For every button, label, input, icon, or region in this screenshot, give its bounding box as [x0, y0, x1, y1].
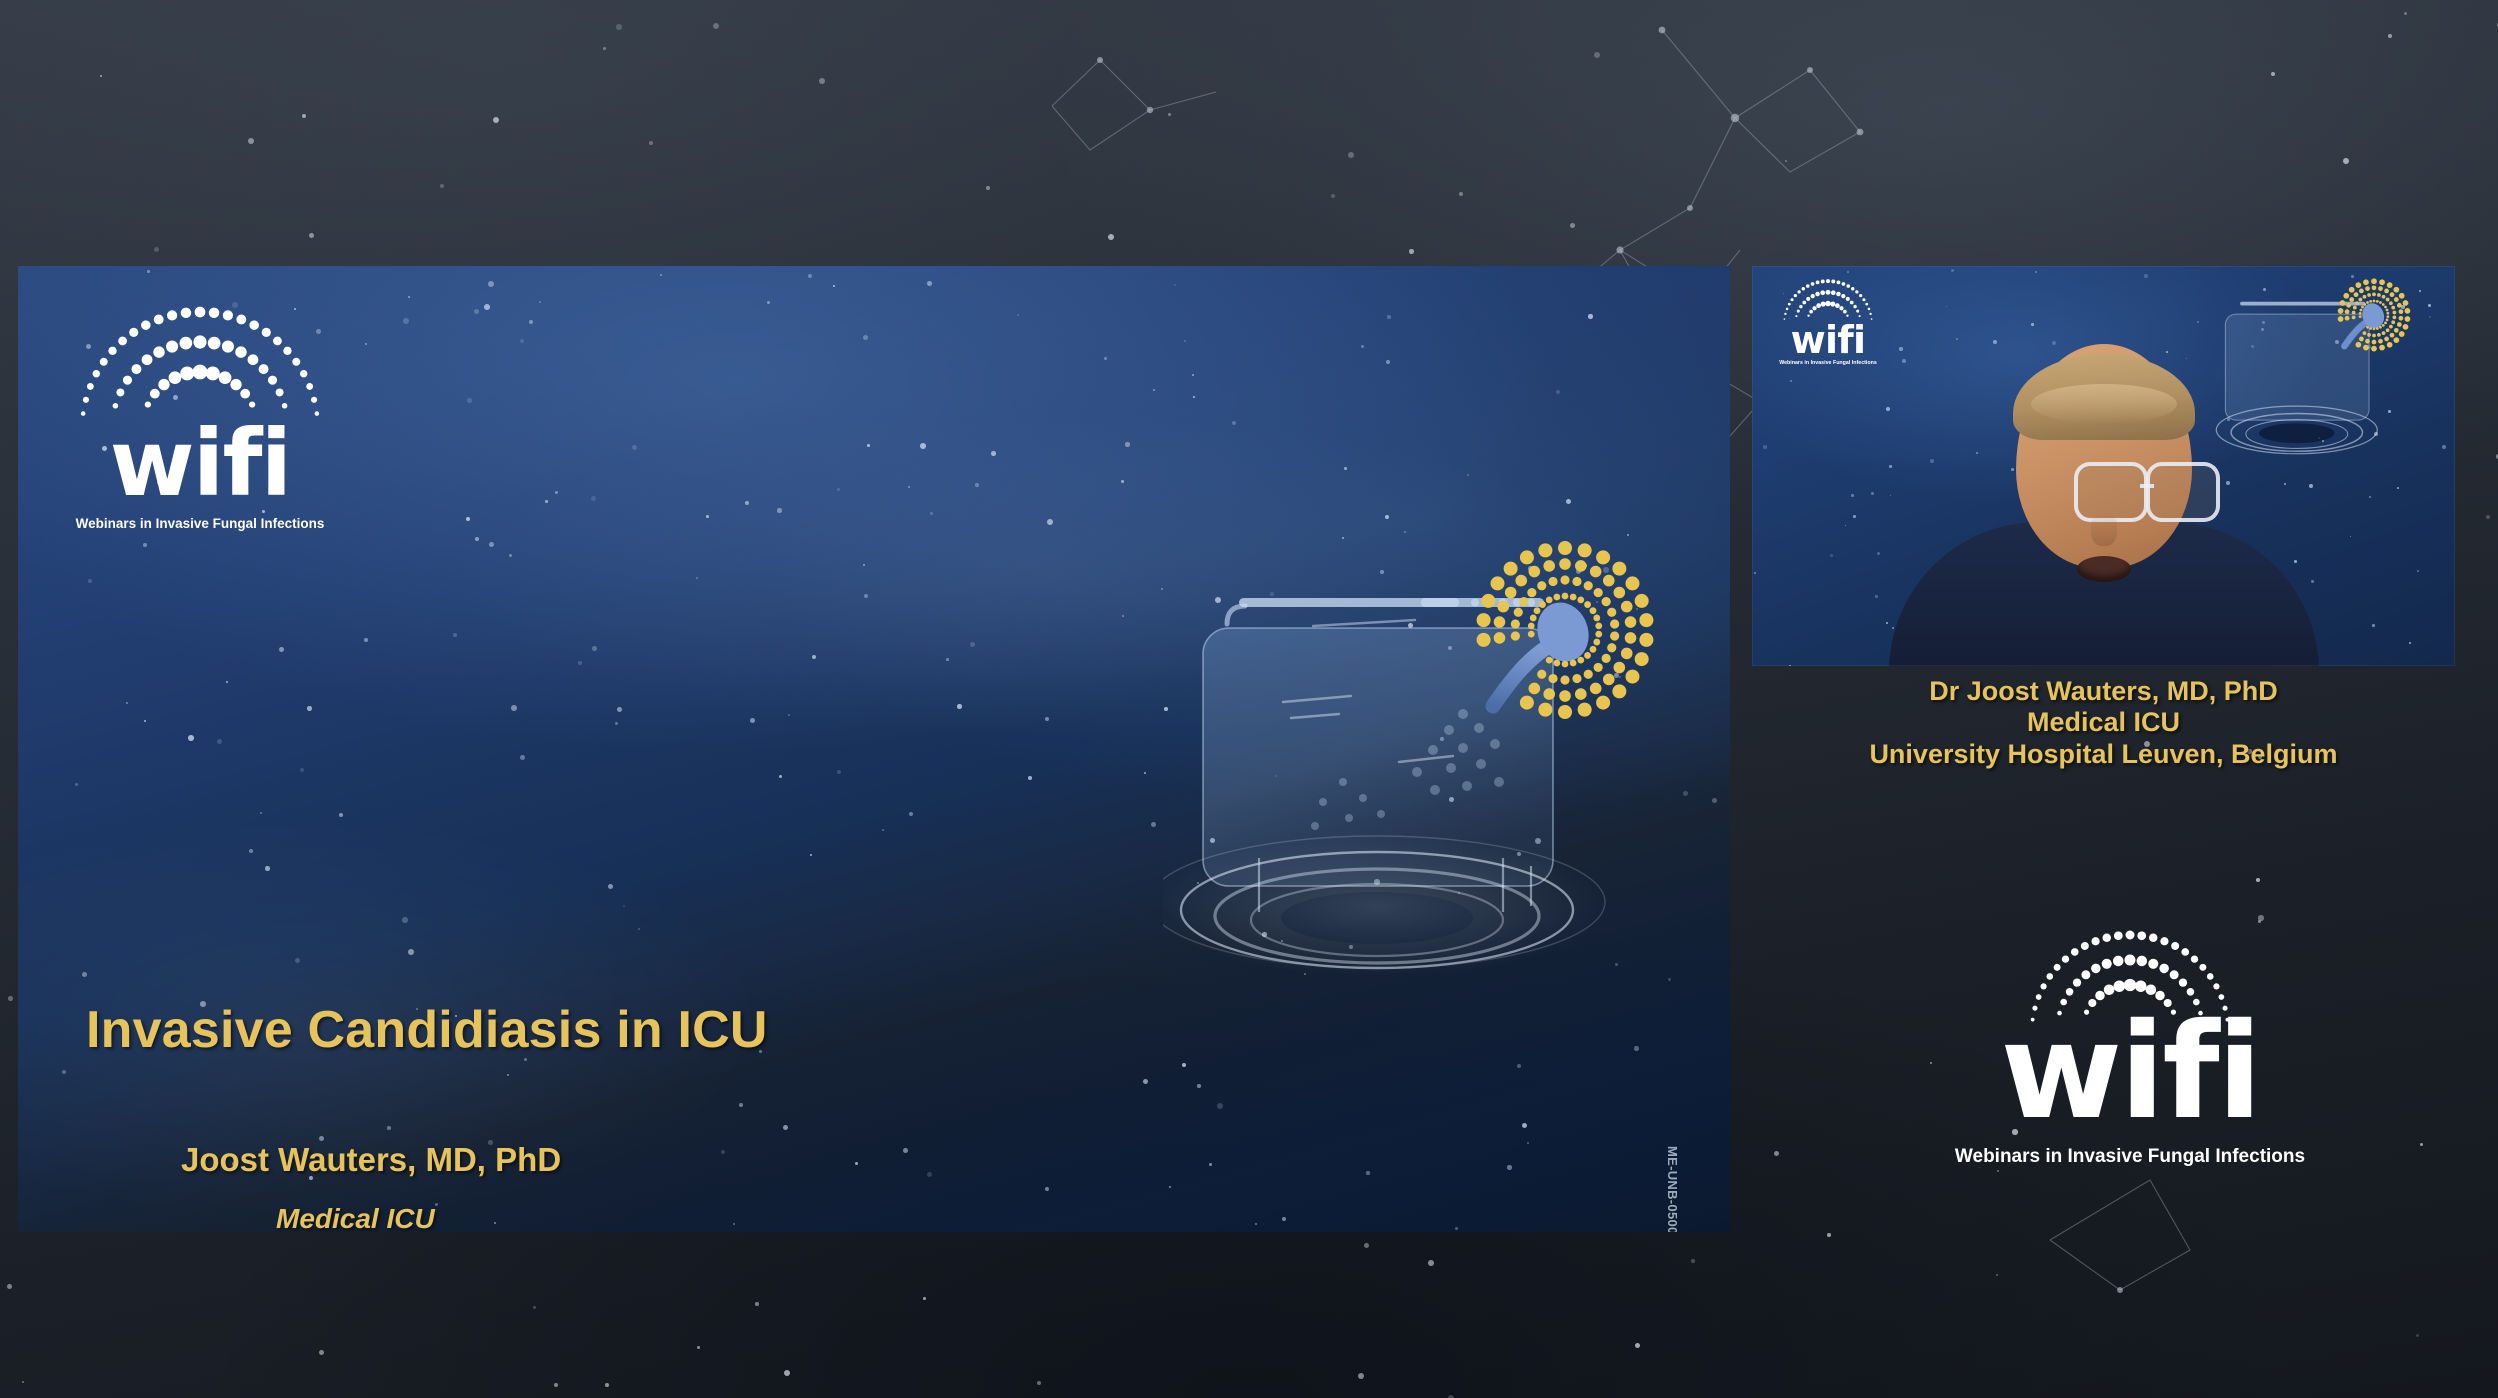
slide-department: Medical ICU — [18, 1203, 1730, 1232]
slide-author: Joost Wauters, MD, PhD — [18, 1141, 1730, 1179]
speaker-department: Medical ICU — [1752, 707, 2455, 738]
speaker-info: Dr Joost Wauters, MD, PhD Medical ICU Un… — [1752, 676, 2455, 770]
presentation-stage: wifi Webinars in Invasive Fungal Infecti… — [0, 0, 2498, 1398]
wifi-logo-right-panel: wifi Webinars in Invasive Fungal Infecti… — [1920, 870, 2340, 1168]
wifi-dotted-arcs-icon — [70, 266, 330, 534]
speaker-webcam-video[interactable]: wifi Webinars in Invasive Fungal Infecti… — [1752, 266, 2455, 666]
monitor-ripple-spore-graphic — [1163, 506, 1730, 1066]
wifi-logo-slide: wifi Webinars in Invasive Fungal Infecti… — [70, 266, 330, 531]
speaker-name: Dr Joost Wauters, MD, PhD — [1752, 676, 2455, 707]
video-border — [1752, 266, 2455, 666]
wifi-tagline: Webinars in Invasive Fungal Infections — [1920, 1146, 2340, 1168]
shared-slide[interactable]: wifi Webinars in Invasive Fungal Infecti… — [18, 266, 1730, 1232]
slide-title: Invasive Candidiasis in ICU — [86, 1000, 768, 1060]
reference-code: ME-UNB-0500 | Prepared: June 2023 — [1665, 1146, 1680, 1232]
speaker-institution: University Hospital Leuven, Belgium — [1752, 739, 2455, 770]
